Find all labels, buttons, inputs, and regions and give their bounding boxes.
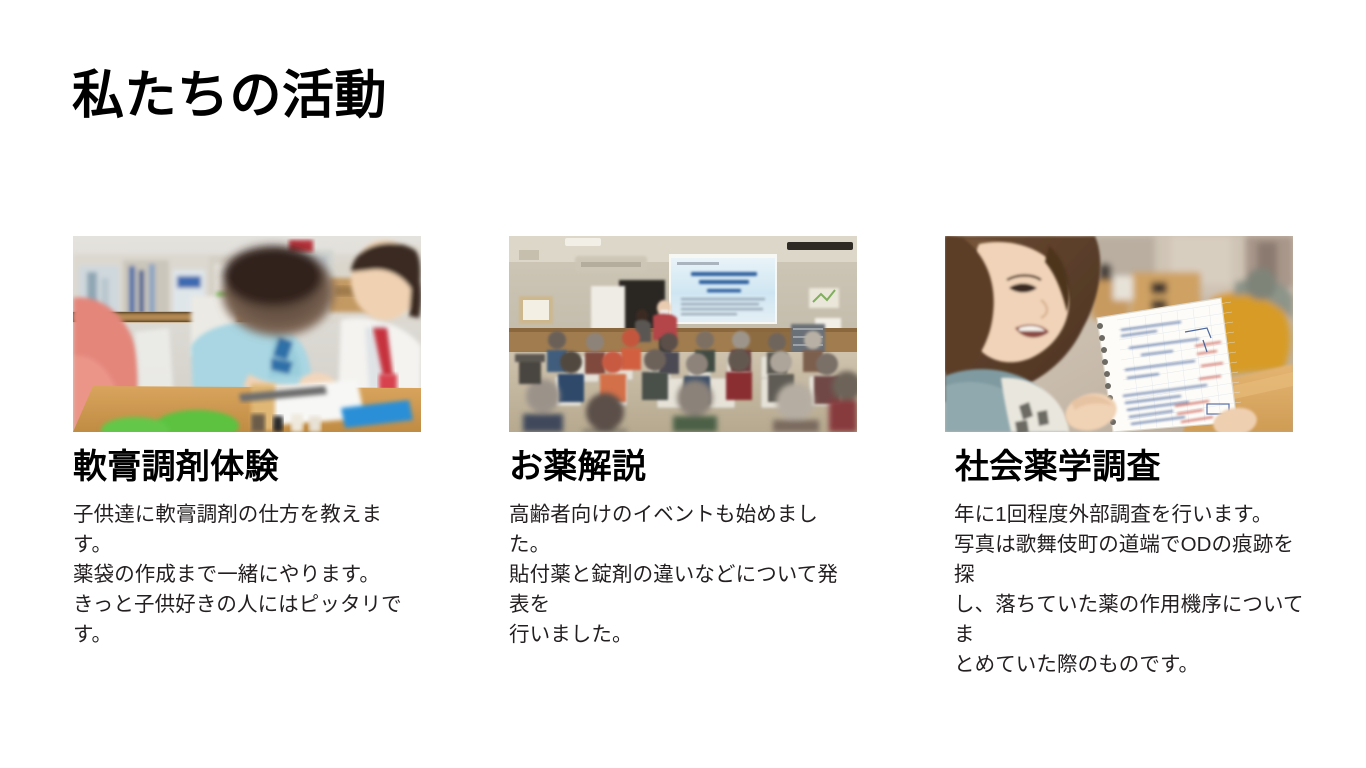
card-body: 高齢者向けのイベントも始めました。 貼付薬と錠剤の違いなどについて発表を 行いま… xyxy=(509,500,857,650)
page-title: 私たちの活動 xyxy=(72,68,387,125)
activity-card-list: 軟膏調剤体験 子供達に軟膏調剤の仕方を教えます。 薬袋の作成まで一緒にやります。… xyxy=(73,236,1293,680)
card-body: 年に1回程度外部調査を行います。 写真は歌舞伎町の道端でODの痕跡を探 し、落ち… xyxy=(954,500,1306,680)
card-body: 子供達に軟膏調剤の仕方を教えます。 薬袋の作成まで一緒にやります。 きっと子供好… xyxy=(73,500,421,650)
slide-root: 私たちの活動 xyxy=(0,0,1366,768)
activity-card: 軟膏調剤体験 子供達に軟膏調剤の仕方を教えます。 薬袋の作成まで一緒にやります。… xyxy=(73,236,421,650)
medicine-lecture-photo xyxy=(509,236,857,432)
card-body-line: し、落ちていた薬の作用機序についてま xyxy=(954,590,1304,650)
card-body-line: 写真は歌舞伎町の道端でODの痕跡を探 xyxy=(954,530,1304,590)
card-heading: 社会薬学調査 xyxy=(955,450,1293,484)
activity-card: 社会薬学調査 年に1回程度外部調査を行います。 写真は歌舞伎町の道端でODの痕跡… xyxy=(945,236,1293,680)
card-body-line: 貼付薬と錠剤の違いなどについて発表を xyxy=(509,560,857,620)
card-body-line: 行いました。 xyxy=(509,620,857,650)
card-body-line: 子供達に軟膏調剤の仕方を教えます。 xyxy=(73,500,421,560)
ointment-compounding-photo xyxy=(73,236,421,432)
card-body-line: とめていた際のものです。 xyxy=(954,650,1304,680)
card-heading: 軟膏調剤体験 xyxy=(73,450,421,484)
card-heading: お薬解説 xyxy=(509,450,857,484)
card-body-line: きっと子供好きの人にはピッタリです。 xyxy=(73,590,421,650)
activity-card: お薬解説 高齢者向けのイベントも始めました。 貼付薬と錠剤の違いなどについて発表… xyxy=(509,236,857,650)
card-body-line: 高齢者向けのイベントも始めました。 xyxy=(509,500,857,560)
social-pharmacy-survey-photo xyxy=(945,236,1293,432)
card-body-line: 年に1回程度外部調査を行います。 xyxy=(954,500,1304,530)
card-body-line: 薬袋の作成まで一緒にやります。 xyxy=(73,560,421,590)
